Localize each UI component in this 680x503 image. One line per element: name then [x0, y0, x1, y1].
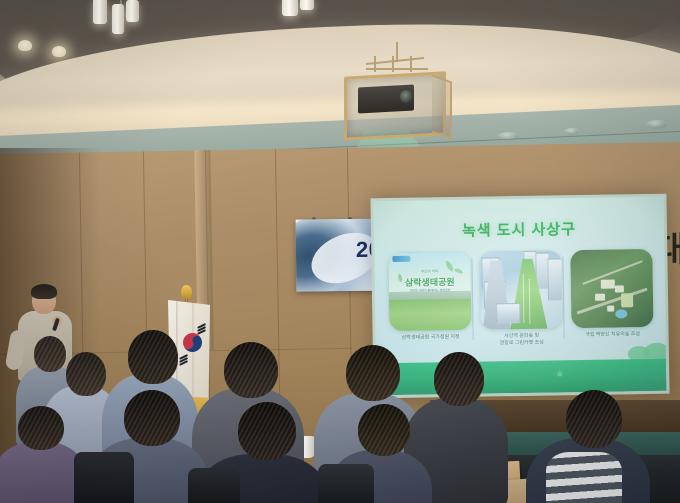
chair-back: [74, 452, 134, 503]
ceiling-spotlight: [52, 46, 66, 57]
flag-finial: [181, 285, 192, 299]
projector-lens: [400, 90, 413, 103]
pendant-light: [112, 4, 124, 34]
recessed-light: [564, 128, 580, 135]
pendant-light: [282, 0, 298, 16]
ceiling-spotlight: [18, 40, 32, 51]
chair-back: [318, 464, 374, 503]
projection-screen: 녹색 도시 사상구 부산의 허파 삼락생태공원 자연과 사람이 함께하는 생태공…: [373, 197, 666, 396]
ceiling-projector: [336, 56, 448, 138]
pendant-light: [300, 0, 314, 10]
recessed-light: [498, 132, 520, 141]
photo-scene: 20 대 . 녹색 도시 사상구 부산의 허파 삼락생태공원 자연과 사람이 함…: [0, 0, 680, 503]
recessed-light: [646, 120, 668, 129]
pendant-light: [93, 0, 107, 24]
projector-cage-side: [432, 74, 452, 139]
chair-back: [188, 468, 240, 503]
pendant-light: [126, 0, 139, 22]
